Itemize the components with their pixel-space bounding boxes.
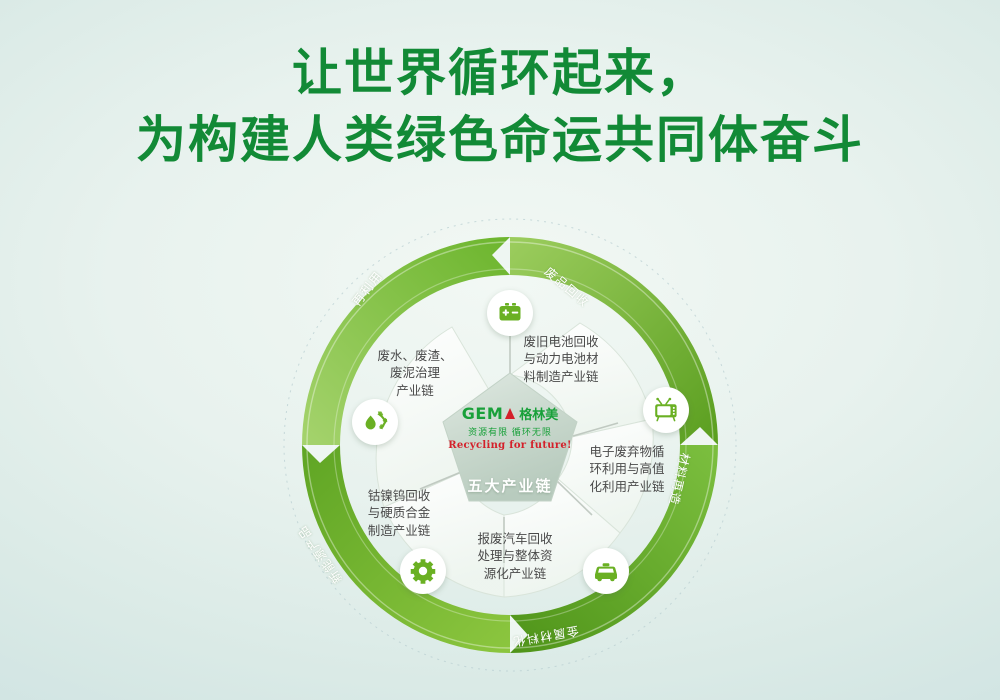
title-line-1: 让世界循环起来，	[0, 44, 1000, 103]
page-title: 让世界循环起来， 为构建人类绿色命运共同体奋斗	[0, 44, 1000, 170]
circular-industry-chain-diagram: GEM 格林美 资源有限 循环无限 Recycling for future! …	[280, 215, 740, 675]
tv-icon	[653, 397, 679, 423]
car-icon	[592, 558, 620, 584]
title-line-2: 为构建人类绿色命运共同体奋斗	[0, 111, 1000, 170]
icon-badge-tv	[643, 387, 689, 433]
infographic-canvas: 让世界循环起来， 为构建人类绿色命运共同体奋斗	[0, 0, 1000, 700]
battery-icon	[497, 300, 523, 326]
gear-icon	[410, 558, 436, 584]
icon-badge-water-recycle	[352, 399, 398, 445]
water-recycle-icon	[361, 408, 389, 436]
diagram-svg	[280, 215, 740, 675]
icon-badge-car	[583, 548, 629, 594]
icon-badge-battery	[487, 290, 533, 336]
icon-badge-gear	[400, 548, 446, 594]
